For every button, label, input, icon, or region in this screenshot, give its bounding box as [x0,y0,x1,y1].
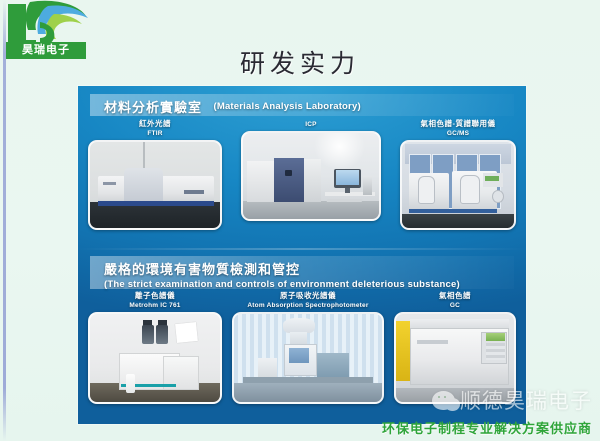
banner-title-cn: 嚴格的環境有害物質檢測和管控 [104,259,300,278]
panel-divider [78,248,526,250]
equipment-name-en: ICP [305,121,316,128]
equipment-caption: ICP [305,120,316,128]
equipment-name-en: Metrohm IC 761 [129,302,180,309]
slide-canvas: 昊瑞电子 研发实力 材料分析實驗室 (Materials Analysis La… [0,0,600,441]
banner-title-cn: 材料分析實驗室 [104,97,202,116]
equipment-name-cn: 紅外光譜 [139,120,171,129]
icp-instrument-photo [241,131,381,221]
equipment-caption: 原子吸收光譜儀 Atom Absorption Spectrophotomete… [247,292,368,309]
section-banner-environment: 嚴格的環境有害物質檢測和管控 (The strict examination a… [90,256,514,289]
equipment-name-cn: 氣相色譜 [439,292,471,301]
equipment-name-cn: 離子色譜儀 [129,292,180,301]
equipment-card-icp[interactable]: ICP [241,120,381,230]
equipment-card-aas[interactable]: 原子吸收光譜儀 Atom Absorption Spectrophotomete… [232,292,384,404]
equipment-name-en: Atom Absorption Spectrophotometer [247,302,368,309]
banner-title-en: (The strict examination and controls of … [104,279,514,290]
equipment-caption: 離子色譜儀 Metrohm IC 761 [129,292,180,309]
gas-chromatograph-photo [394,312,516,404]
equipment-card-gcms[interactable]: 氣相色譜-質譜聯用儀 GC/MS [400,120,516,230]
equipment-caption: 氣相色譜 GC [439,292,471,309]
page-title: 研发实力 [0,44,600,80]
equipment-card-gc[interactable]: 氣相色譜 GC [394,292,516,404]
equipment-row-materials: 紅外光譜 FTIR ICP [88,120,516,230]
equipment-name-en: FTIR [139,130,171,137]
equipment-caption: 氣相色譜-質譜聯用儀 GC/MS [421,120,496,137]
section-banner-materials: 材料分析實驗室 (Materials Analysis Laboratory) [90,94,514,116]
equipment-row-environment: 離子色譜儀 Metrohm IC 761 原子吸收光譜儀 Atom Absorp… [88,292,516,404]
equipment-name-cn: 原子吸收光譜儀 [247,292,368,301]
footer-slogan: 环保电子制程专业解决方案供应商 [382,418,592,437]
ftir-spectrometer-photo [88,140,222,230]
banner-title-en: (Materials Analysis Laboratory) [213,101,360,112]
equipment-card-ftir[interactable]: 紅外光譜 FTIR [88,120,222,230]
equipment-name-cn: 氣相色譜-質譜聯用儀 [421,120,496,129]
equipment-caption: 紅外光譜 FTIR [139,120,171,137]
equipment-name-en: GC [439,302,471,309]
equipment-card-ion-chromatograph[interactable]: 離子色譜儀 Metrohm IC 761 [88,292,222,404]
equipment-name-en: GC/MS [421,130,496,137]
ion-chromatograph-photo [88,312,222,404]
atomic-absorption-spectrophotometer-photo [232,312,384,404]
gcms-instrument-photo [400,140,516,230]
content-panel: 材料分析實驗室 (Materials Analysis Laboratory) … [78,86,526,424]
